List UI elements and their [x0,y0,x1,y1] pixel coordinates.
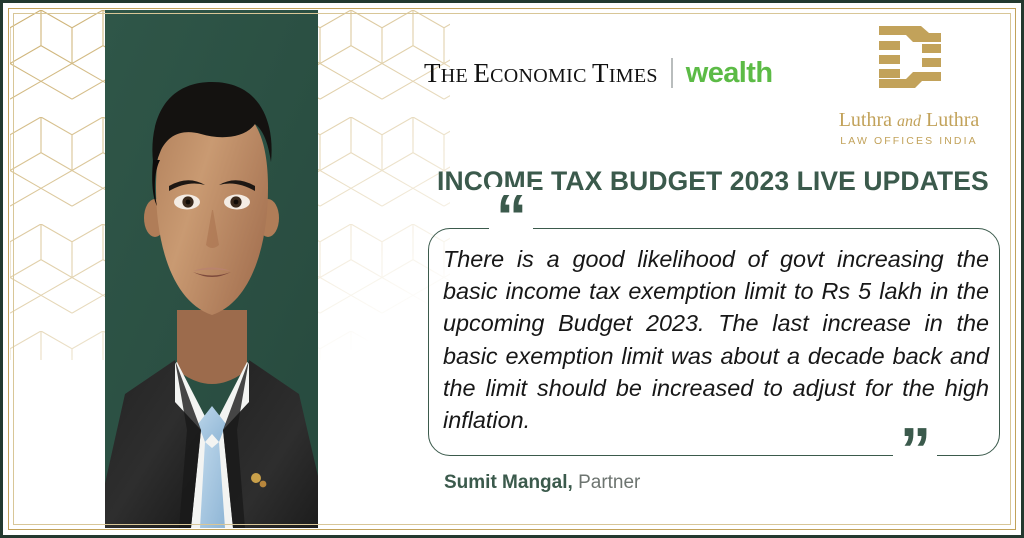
publication-masthead: THE ECONOMIC TIMES wealth [424,58,772,88]
avatar [105,10,318,528]
masthead-divider [671,58,673,88]
law-firm-logo: Luthra and Luthra LAW OFFICES INDIA [818,22,1000,147]
quote-attribution: Sumit Mangal, Partner [444,472,640,494]
firm-name: Luthra and Luthra [818,110,1000,130]
attribution-person: Sumit Mangal, [444,472,573,493]
firm-name-second: Luthra [921,109,979,131]
publication-he: HE [441,65,474,87]
luthra-mark-icon [869,22,949,100]
firm-name-first: Luthra [839,109,897,131]
quote-text: There is a good likelihood of govt incre… [443,243,989,436]
publication-name: THE ECONOMIC TIMES [424,60,658,87]
quote-card: THE ECONOMIC TIMES wealth Luthra and Lut… [0,0,1024,538]
quote-open-icon: “ [489,187,533,249]
firm-name-and: and [897,113,921,130]
publication-conomic: CONOMIC [490,65,592,87]
quote-close-icon: ” [893,420,937,482]
attribution-role: Partner [573,472,641,493]
firm-subtitle: LAW OFFICES INDIA [818,135,1000,147]
publication-imes: IMES [609,65,658,87]
publication-vertical: wealth [686,59,773,88]
